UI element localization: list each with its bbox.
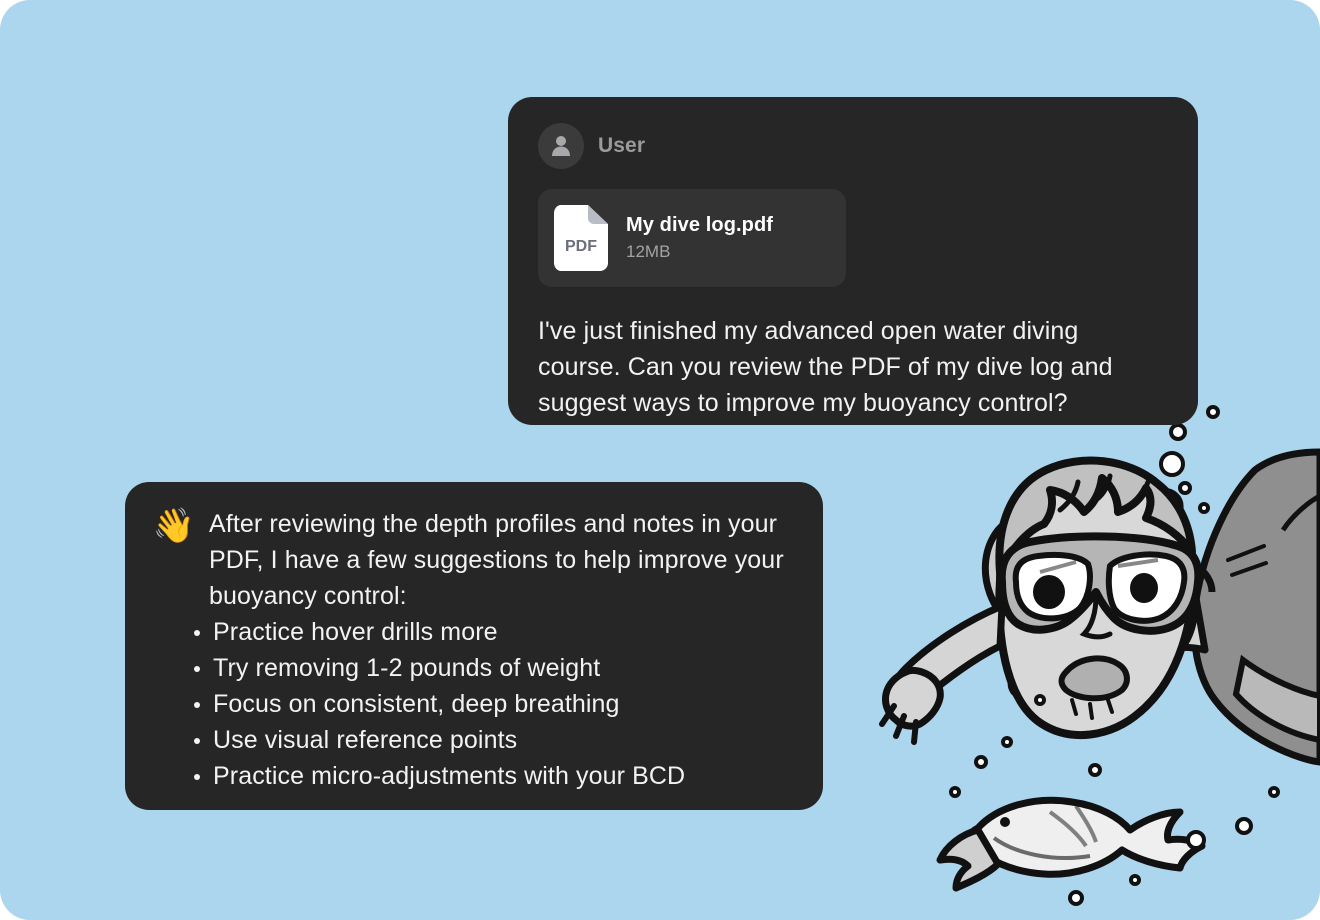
bubbles — [951, 392, 1278, 904]
attachment-card[interactable]: PDF My dive log.pdf 12MB — [538, 189, 846, 287]
list-item: Practice hover drills more — [191, 614, 793, 650]
user-message-bubble: User PDF My dive log.pdf 12MB I've just … — [508, 97, 1198, 425]
app-canvas: User PDF My dive log.pdf 12MB I've just … — [0, 0, 1320, 920]
diver-right-arm — [1011, 598, 1205, 697]
attachment-file-name: My dive log.pdf — [626, 214, 773, 237]
list-item: Focus on consistent, deep breathing — [191, 686, 793, 722]
snorkel-icon — [1104, 492, 1180, 694]
svg-text:PDF: PDF — [565, 238, 597, 255]
diver-body — [1194, 452, 1320, 762]
user-message-text: I've just finished my advanced open wate… — [538, 313, 1168, 421]
assistant-message-bubble: 👋 After reviewing the depth profiles and… — [125, 482, 823, 810]
fish-icon — [940, 800, 1202, 888]
pdf-file-icon: PDF — [554, 205, 608, 271]
person-avatar-icon — [548, 133, 574, 159]
attachment-file-size: 12MB — [626, 242, 773, 262]
diver-shoulder — [985, 504, 1196, 665]
user-name-label: User — [598, 134, 645, 158]
user-header: User — [538, 123, 1168, 169]
suggestions-list: Practice hover drills more Try removing … — [151, 614, 793, 794]
avatar — [538, 123, 584, 169]
list-item: Use visual reference points — [191, 722, 793, 758]
waving-hand-icon: 👋 — [151, 506, 197, 546]
list-item: Try removing 1-2 pounds of weight — [191, 650, 793, 686]
assistant-intro-text: After reviewing the depth profiles and n… — [209, 506, 793, 614]
list-item: Practice micro-adjustments with your BCD — [191, 758, 793, 794]
diver-left-arm — [882, 606, 1002, 742]
diver-head — [999, 461, 1212, 736]
